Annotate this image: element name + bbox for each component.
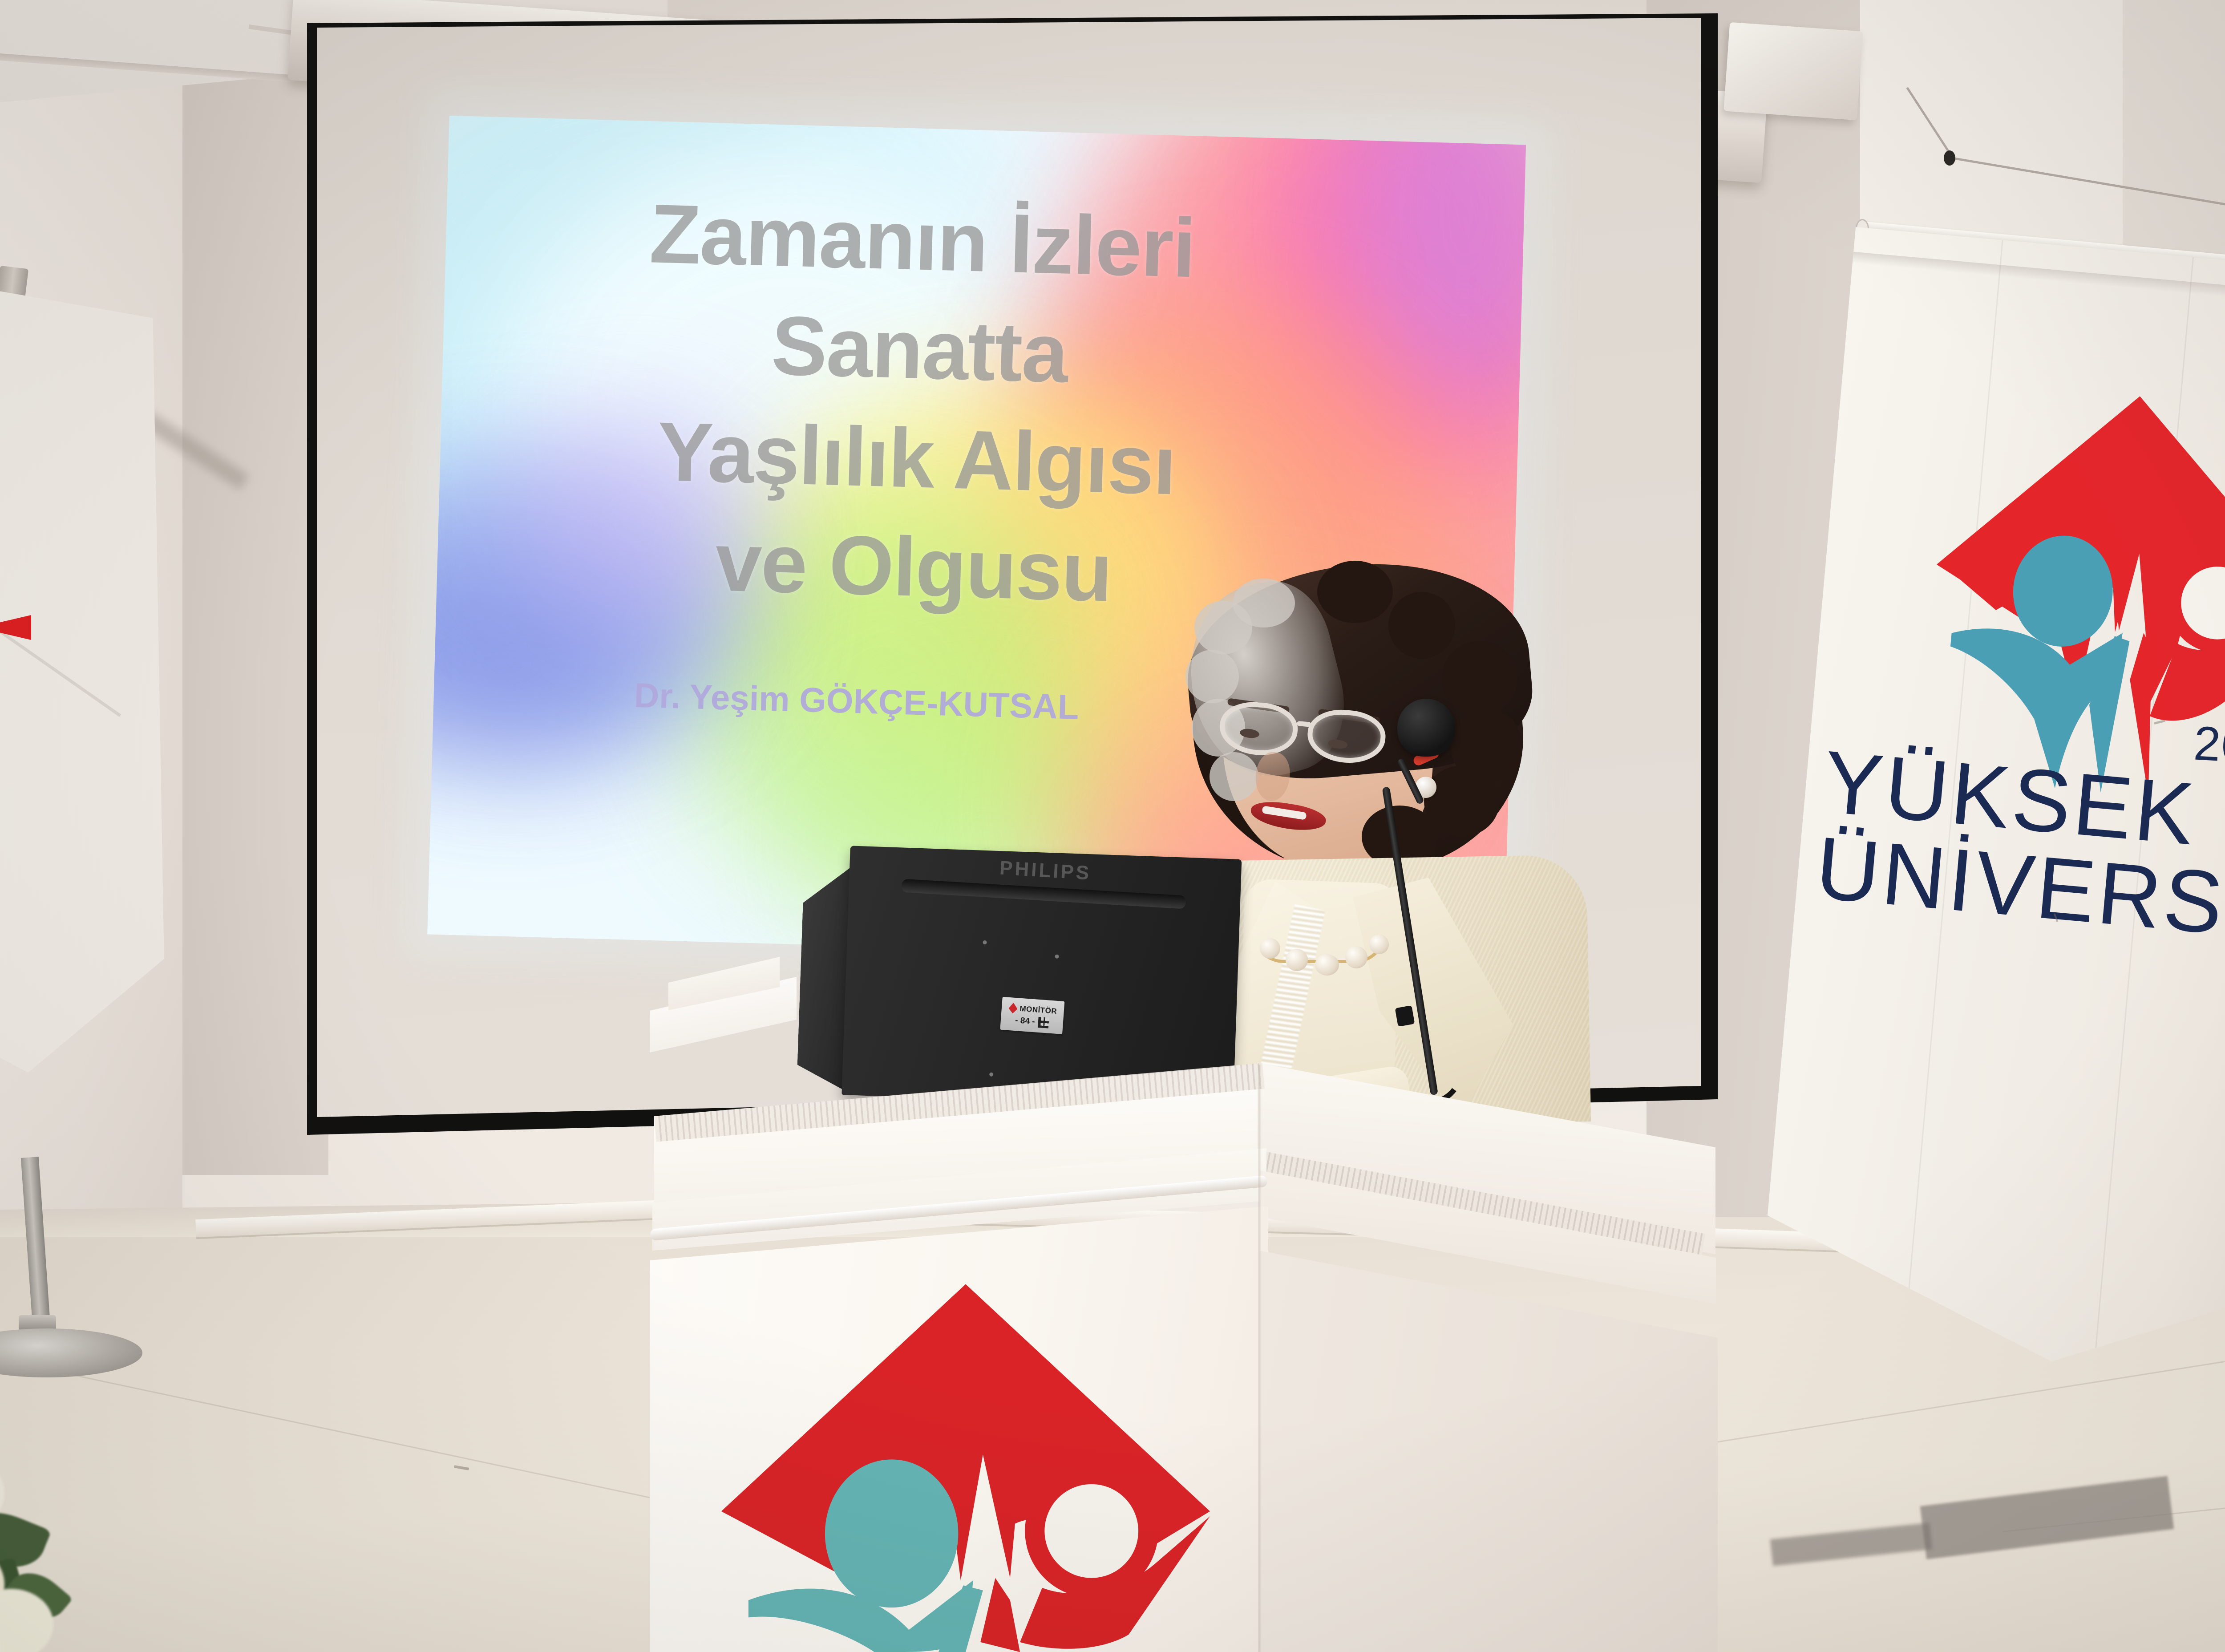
lectern-podium[interactable] bbox=[636, 1015, 1713, 1652]
podium-corner-edge bbox=[1258, 1065, 1262, 1652]
necklace-pearl bbox=[1260, 938, 1280, 959]
microphone-head[interactable] bbox=[1397, 699, 1455, 757]
flower-arrangement bbox=[0, 1420, 129, 1652]
eyeglass-bridge bbox=[1297, 721, 1311, 727]
wall-shadow-left bbox=[182, 62, 328, 1175]
eyeglass-lens-right bbox=[1305, 707, 1388, 766]
banner-crease bbox=[0, 571, 121, 717]
asset-sticker-type: MONİTÖR bbox=[1019, 1004, 1057, 1016]
hair-curl-grey bbox=[1233, 579, 1295, 628]
hair-curl bbox=[1388, 592, 1455, 659]
monitor-vesa-screw bbox=[983, 940, 987, 944]
monitor-vesa-screw bbox=[1055, 955, 1059, 959]
hair-curl bbox=[1317, 561, 1393, 623]
university-diamond-figures-logo bbox=[716, 1282, 1215, 1652]
necklace-pearl bbox=[1369, 935, 1389, 954]
pearl-necklace bbox=[1253, 917, 1386, 970]
necklace-pearl bbox=[1286, 949, 1308, 971]
banner-wordmark: YÜKSEK İHTİSAS ÜNİVERSİTESİ bbox=[1812, 738, 2225, 960]
necklace-pearl bbox=[1315, 954, 1339, 976]
eyeglass-lens-left bbox=[1218, 699, 1300, 758]
necklace-pearl bbox=[1345, 946, 1367, 968]
university-diamond-mark-icon bbox=[1008, 1002, 1018, 1013]
photo-scene: Zamanın İzleri Sanatta Yaşlılık Algısı v… bbox=[0, 0, 2225, 1652]
slide-title: Zamanın İzleri Sanatta Yaşlılık Algısı v… bbox=[436, 174, 1400, 634]
hair-curl bbox=[1442, 641, 1517, 717]
banner-ceiling-hook bbox=[1944, 150, 1955, 166]
hair-curl-grey bbox=[1185, 650, 1239, 703]
projector-screen-housing-cap bbox=[1723, 22, 1863, 120]
hair-curl bbox=[1424, 765, 1500, 837]
banner-top-fold bbox=[1853, 252, 2225, 316]
podium-body-right bbox=[1259, 1251, 1718, 1652]
